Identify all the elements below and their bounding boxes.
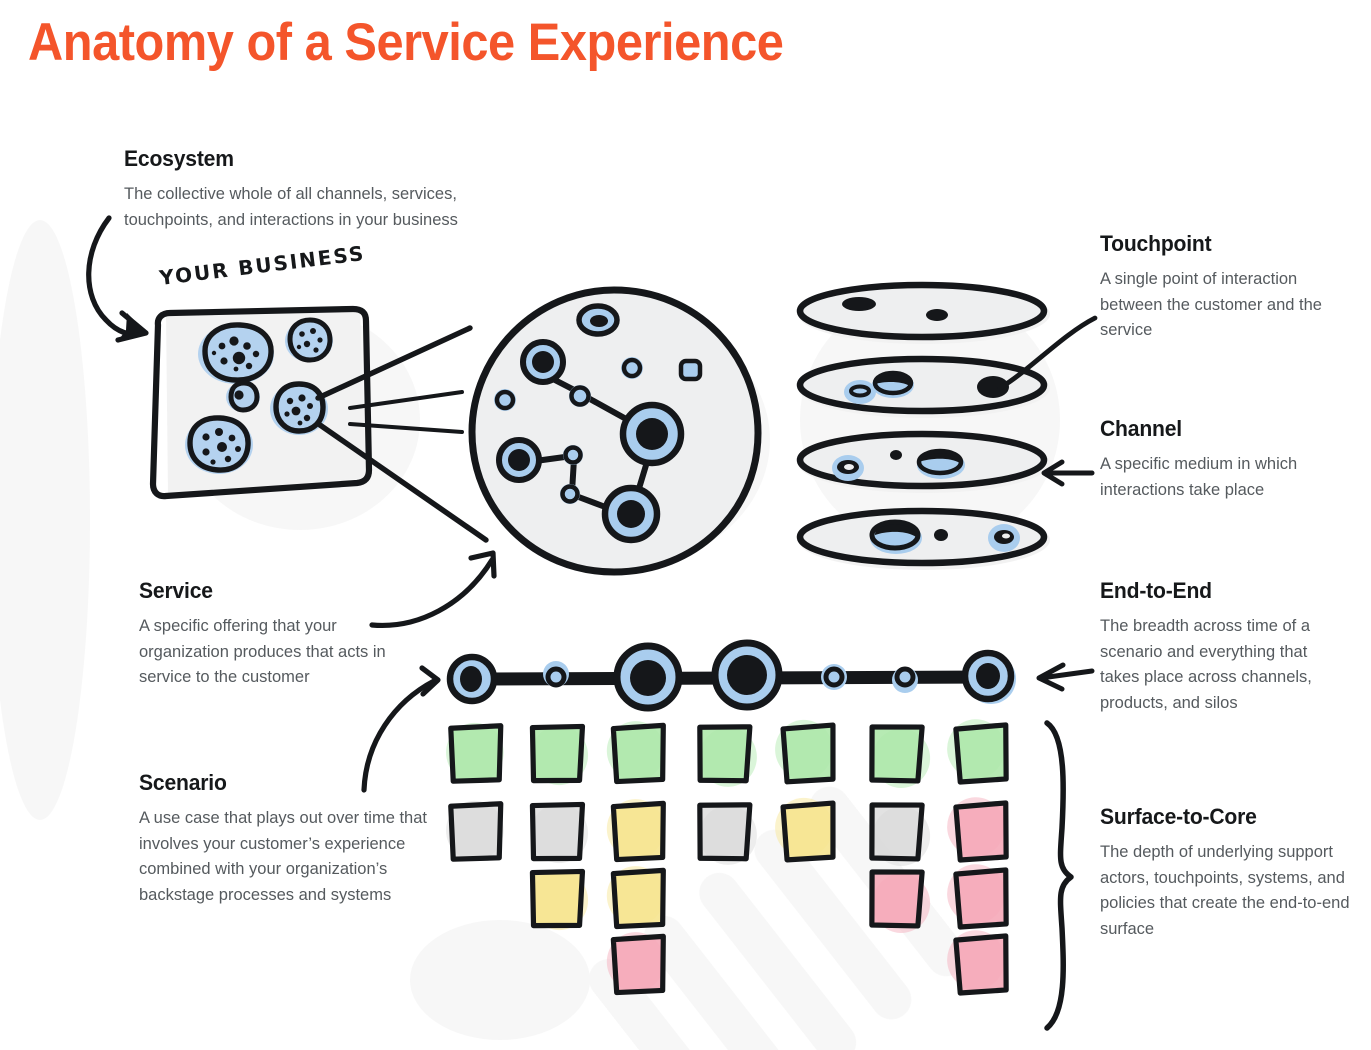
touchpoint-node: [569, 385, 591, 407]
grid-card: [530, 803, 589, 863]
grid-card: [606, 720, 665, 781]
ecosystem-arrow: [89, 218, 147, 340]
channel-ellipse: [798, 284, 1050, 344]
channel-ellipse: [798, 433, 1050, 493]
grid-card: [606, 798, 665, 859]
grid-card: [530, 725, 589, 785]
label-body-surface-to-core: The depth of underlying support actors, …: [1100, 840, 1360, 942]
channel-ellipses: [798, 284, 1050, 570]
label-end-to-end: End-to-End The breadth across time of a …: [1100, 578, 1350, 716]
touchpoint-node: [621, 357, 643, 379]
service-blob-magnified-source: [270, 383, 328, 435]
label-heading-surface-to-core: Surface-to-Core: [1100, 804, 1350, 830]
label-heading-service: Service: [139, 578, 403, 604]
ecosystem-magnifier-circle: [472, 290, 760, 572]
grid-card: [774, 797, 835, 860]
grid-card: [446, 801, 504, 861]
label-heading-channel: Channel: [1100, 416, 1340, 442]
label-service: Service A specific offering that your or…: [139, 578, 414, 691]
touchpoint-highlight-dot: [977, 376, 1009, 398]
timeline-node: [892, 667, 918, 693]
grid-card: [946, 718, 1008, 783]
channel-ellipse: [798, 358, 1050, 418]
timeline-node: [965, 653, 1016, 704]
service-blob: [285, 320, 333, 362]
channel-arrow: [1044, 462, 1092, 484]
label-touchpoint: Touchpoint A single point of interaction…: [1100, 231, 1350, 344]
grid-card: [530, 870, 589, 930]
channel-ellipse: [798, 510, 1050, 570]
timeline-node: [712, 640, 782, 710]
grid-card: [870, 870, 932, 934]
grid-card: [946, 796, 1008, 861]
touchpoint-node: [604, 487, 658, 541]
grid-card: [698, 803, 758, 865]
grid-card: [870, 725, 932, 789]
grid-card: [946, 929, 1008, 994]
service-blob: [185, 416, 253, 474]
timeline-node: [821, 664, 847, 690]
label-heading-ecosystem: Ecosystem: [124, 146, 508, 172]
timeline-node: [615, 644, 681, 710]
label-ecosystem: Ecosystem The collective whole of all ch…: [124, 146, 524, 233]
grid-card: [698, 725, 758, 787]
label-surface-to-core: Surface-to-Core The depth of underlying …: [1100, 804, 1360, 942]
label-body-touchpoint: A single point of interaction between th…: [1100, 267, 1350, 344]
touchpoint-node: [560, 484, 580, 504]
touchpoint-node: [498, 439, 540, 481]
label-channel: Channel A specific medium in which inter…: [1100, 416, 1350, 503]
touchpoint-node: [578, 305, 618, 335]
magnifier-funnel: [318, 328, 486, 540]
your-business-label: YOUR BUSINESS: [158, 241, 366, 290]
touchpoint-node: [622, 404, 682, 464]
touchpoint-node: [679, 360, 701, 381]
touchpoint-leader-line: [1000, 318, 1095, 388]
label-heading-scenario: Scenario: [139, 770, 417, 796]
timeline-node: [448, 655, 496, 703]
service-blob: [198, 324, 274, 384]
label-body-scenario: A use case that plays out over time that…: [139, 806, 429, 908]
label-scenario: Scenario A use case that plays out over …: [139, 770, 429, 908]
label-heading-touchpoint: Touchpoint: [1100, 231, 1340, 257]
grid-card: [946, 863, 1008, 928]
service-blob: [226, 382, 260, 412]
surface-to-core-grid: [446, 718, 1008, 994]
end-to-end-arrow: [1039, 665, 1092, 689]
surface-to-core-brace: [1047, 723, 1071, 1028]
label-body-end-to-end: The breadth across time of a scenario an…: [1100, 614, 1350, 716]
label-body-channel: A specific medium in which interactions …: [1100, 452, 1350, 503]
your-business-box: [153, 308, 369, 496]
page-title: Anatomy of a Service Experience: [28, 12, 783, 73]
touchpoint-node: [563, 445, 583, 465]
touchpoint-node: [522, 341, 564, 383]
end-to-end-timeline: [448, 640, 1016, 710]
touchpoint-node: [494, 389, 516, 411]
timeline-node: [543, 661, 569, 687]
label-heading-end-to-end: End-to-End: [1100, 578, 1340, 604]
label-body-ecosystem: The collective whole of all channels, se…: [124, 182, 524, 233]
grid-card: [774, 719, 835, 782]
label-body-service: A specific offering that your organizati…: [139, 614, 414, 691]
grid-card: [606, 865, 665, 926]
grid-card: [446, 723, 504, 783]
grid-card: [606, 931, 665, 992]
grid-card: [870, 803, 932, 867]
